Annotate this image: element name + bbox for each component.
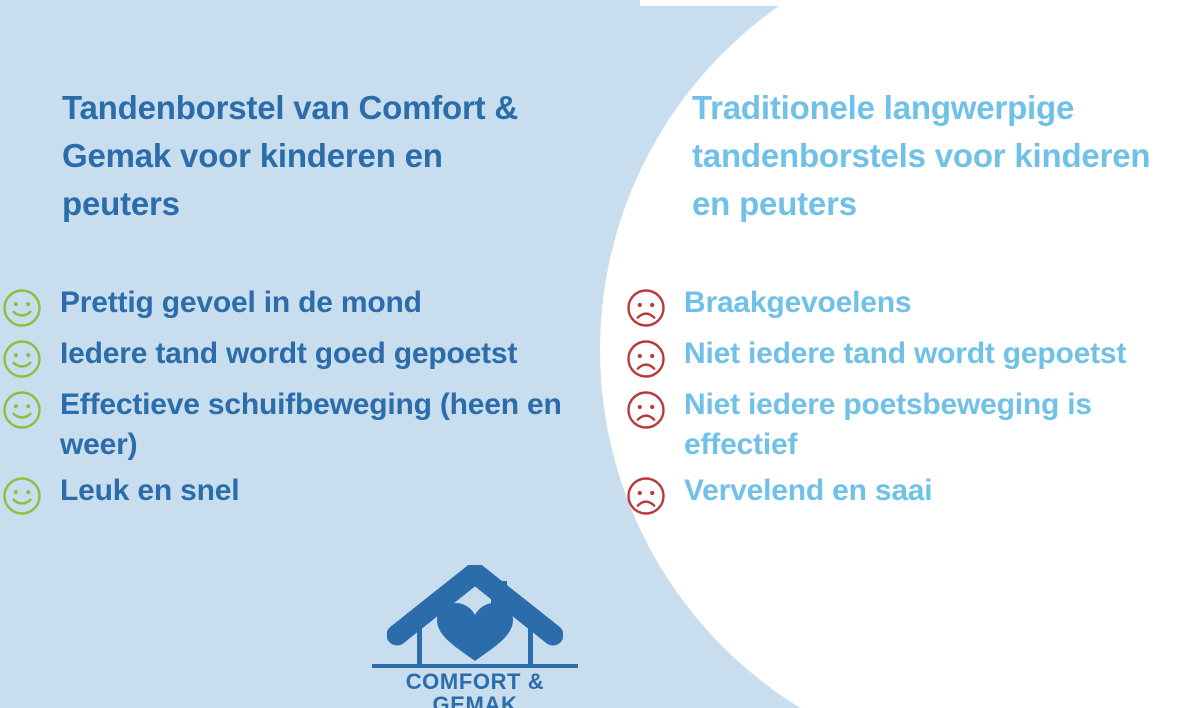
right-drawbacks-list: Braakgevoelens Niet iedere tand wordt ge… [620,283,1200,522]
frowning-face-icon [626,476,666,516]
list-item: Vervelend en saai [620,471,1200,516]
comparison-infographic: Tandenborstel van Comfort & Gemak voor k… [0,0,1200,708]
list-item-label: Vervelend en saai [684,471,932,511]
right-column-heading: Traditionele langwerpige tandenborstels … [692,84,1192,229]
list-item-label: Leuk en snel [60,471,239,511]
frowning-face-icon [626,288,666,328]
white-panel-top-strip [640,0,1200,6]
list-item: Iedere tand wordt goed gepoetst [0,334,600,379]
list-item-label: Niet iedere tand wordt gepoetst [684,334,1126,374]
smiley-face-icon [2,288,42,328]
brand-logo: COMFORT & GEMAK [372,565,578,708]
list-item: Prettig gevoel in de mond [0,283,600,328]
frowning-face-icon [626,339,666,379]
smiley-face-icon [2,339,42,379]
list-item: Effectieve schuifbeweging (heen en weer) [0,385,600,465]
smiley-face-icon [2,476,42,516]
frowning-face-icon [626,390,666,430]
list-item-label: Iedere tand wordt goed gepoetst [60,334,517,374]
list-item: Braakgevoelens [620,283,1200,328]
house-with-heart-icon [387,565,563,667]
list-item: Leuk en snel [0,471,600,516]
list-item-label: Niet iedere poetsbeweging is effectief [684,385,1200,465]
list-item: Niet iedere poetsbeweging is effectief [620,385,1200,465]
smiley-face-icon [2,390,42,430]
list-item: Niet iedere tand wordt gepoetst [620,334,1200,379]
left-benefits-list: Prettig gevoel in de mond Iedere tand wo… [0,283,600,522]
list-item-label: Braakgevoelens [684,283,911,323]
logo-wordmark: COMFORT & GEMAK [372,664,578,708]
list-item-label: Prettig gevoel in de mond [60,283,422,323]
list-item-label: Effectieve schuifbeweging (heen en weer) [60,385,580,465]
left-column-heading: Tandenborstel van Comfort & Gemak voor k… [62,84,532,229]
